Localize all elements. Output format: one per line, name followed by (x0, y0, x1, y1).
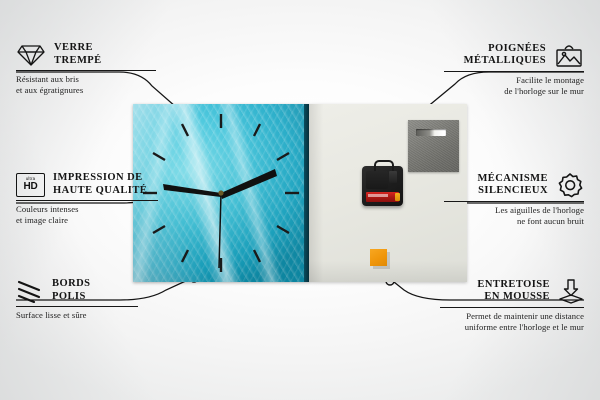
metal-hanger-bracket (408, 120, 459, 172)
feature-title-line2: SILENCIEUX (477, 185, 548, 198)
feature-title: BORDS POLIS (52, 278, 90, 303)
feature-entretoise-en-mousse: ENTRETOISE EN MOUSSE Permet de maintenir… (440, 278, 584, 332)
feature-title-line2: EN MOUSSE (477, 291, 550, 304)
feature-desc-line2: et aux égratignures (16, 85, 156, 96)
feature-bords-polis: BORDS POLIS Surface lisse et sûre (16, 278, 138, 321)
feature-impression-haute-qualite: ultra HD IMPRESSION DE HAUTE QUALITÉ Cou… (16, 172, 158, 225)
diamond-icon (16, 43, 46, 67)
feature-head: ultra HD IMPRESSION DE HAUTE QUALITÉ (16, 172, 158, 197)
feature-description: Résistant aux bris et aux égratignures (16, 74, 156, 95)
feature-description: Les aiguilles de l'horloge ne font aucun… (444, 205, 584, 226)
feature-desc-line1: Facilite le montage (444, 75, 584, 86)
foam-spacer (370, 249, 387, 266)
feature-description: Surface lisse et sûre (16, 310, 138, 321)
feature-title: VERRE TREMPÉ (54, 42, 102, 67)
glass-clock-face (133, 104, 309, 282)
feature-title-line1: BORDS (52, 278, 90, 291)
feature-desc-line1: Résistant aux bris (16, 74, 156, 85)
infographic-poster: VERRE TREMPÉ Résistant aux bris et aux é… (0, 0, 600, 400)
feature-title-line2: MÉTALLIQUES (464, 55, 546, 68)
battery-label (368, 194, 388, 197)
clock-hands (163, 169, 277, 268)
clock-second-hand (219, 193, 221, 268)
feature-title: MÉCANISME SILENCIEUX (477, 173, 548, 198)
feature-title-line2: POLIS (52, 291, 90, 304)
feature-title-line2: TREMPÉ (54, 55, 102, 68)
feature-head: BORDS POLIS (16, 278, 138, 303)
battery (366, 192, 399, 202)
hd-badge-big-label: HD (23, 182, 37, 192)
feature-title: POIGNÉES MÉTALLIQUES (464, 43, 546, 68)
feature-title-line1: ENTRETOISE (477, 279, 550, 292)
clock-hour-hand (163, 184, 221, 197)
feature-title-line1: VERRE (54, 42, 102, 55)
ultra-hd-badge-icon: ultra HD (16, 173, 45, 197)
feature-desc-line2: ne font aucun bruit (444, 216, 584, 227)
clock-minute-hand (221, 169, 277, 199)
gear-icon (556, 172, 584, 198)
bracket-keyhole-slot (416, 129, 446, 136)
feature-desc-line2: uniforme entre l'horloge et le mur (440, 322, 584, 333)
bracket-grain (408, 120, 459, 172)
polished-edges-icon (16, 279, 44, 303)
feature-head: POIGNÉES MÉTALLIQUES (444, 42, 584, 68)
feature-divider (440, 307, 584, 308)
feature-desc-line1: Surface lisse et sûre (16, 310, 138, 321)
feature-title-line1: MÉCANISME (477, 173, 548, 186)
feature-title-line2: HAUTE QUALITÉ (53, 185, 147, 198)
feature-divider (16, 70, 156, 71)
feature-divider (16, 200, 158, 201)
product-image (133, 104, 467, 282)
feature-desc-line1: Permet de maintenir une distance (440, 311, 584, 322)
feature-desc-line2: et image claire (16, 215, 158, 226)
feature-poignees-metalliques: POIGNÉES MÉTALLIQUES Facilite le montage… (444, 42, 584, 96)
clock-face-svg (133, 104, 309, 282)
feature-desc-line2: de l'horloge sur le mur (444, 86, 584, 97)
feature-head: VERRE TREMPÉ (16, 42, 156, 67)
feature-verre-trempe: VERRE TREMPÉ Résistant aux bris et aux é… (16, 42, 156, 95)
spacer-down-arrow-icon (558, 278, 584, 304)
feature-head: ENTRETOISE EN MOUSSE (440, 278, 584, 304)
feature-title-line1: POIGNÉES (464, 43, 546, 56)
feature-title: ENTRETOISE EN MOUSSE (477, 279, 550, 304)
feature-divider (444, 201, 584, 202)
feature-head: MÉCANISME SILENCIEUX (444, 172, 584, 198)
mechanism-plate (366, 171, 388, 189)
feature-desc-line1: Couleurs intenses (16, 204, 158, 215)
feature-description: Facilite le montage de l'horloge sur le … (444, 75, 584, 96)
feature-title-line1: IMPRESSION DE (53, 172, 147, 185)
battery-terminal (395, 193, 400, 201)
feature-divider (16, 306, 138, 307)
feature-description: Couleurs intenses et image claire (16, 204, 158, 225)
mechanism-shaft (389, 171, 397, 183)
feature-mecanisme-silencieux: MÉCANISME SILENCIEUX Les aiguilles de l'… (444, 172, 584, 226)
feature-description: Permet de maintenir une distance uniform… (440, 311, 584, 332)
wall-mount-frame-icon (554, 42, 584, 68)
feature-title: IMPRESSION DE HAUTE QUALITÉ (53, 172, 147, 197)
feature-divider (444, 71, 584, 72)
feature-desc-line1: Les aiguilles de l'horloge (444, 205, 584, 216)
clock-center-cap (218, 190, 223, 195)
mechanism-hanger-hook (374, 160, 394, 171)
quartz-mechanism (362, 166, 403, 206)
